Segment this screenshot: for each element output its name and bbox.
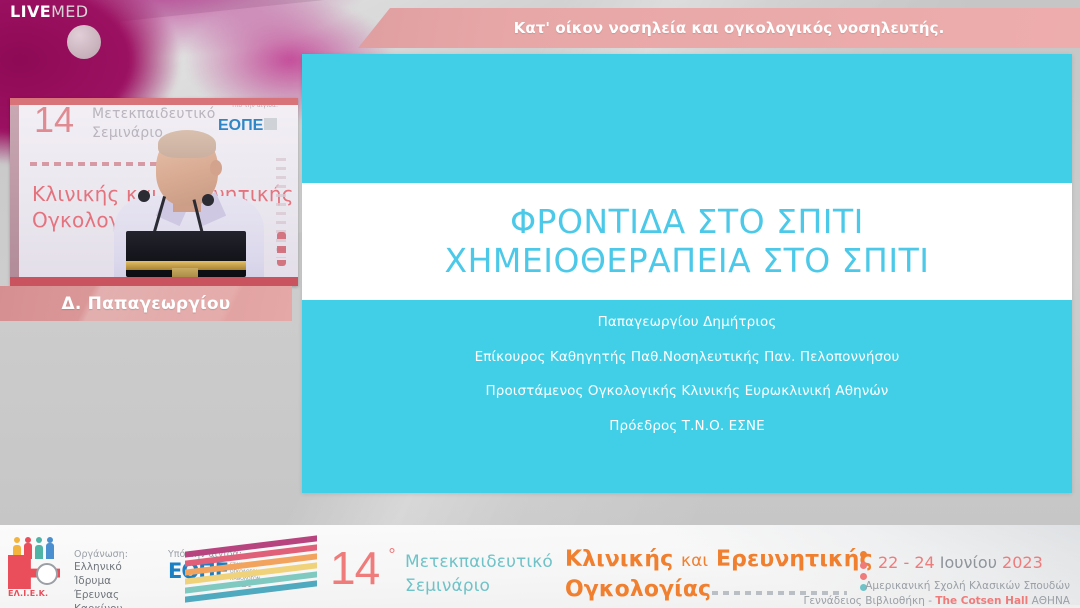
topic-line1-b: και	[681, 551, 708, 571]
presentation-title-text: Κατ' οίκον νοσηλεία και ογκολογικός νοση…	[494, 19, 945, 37]
slide-author-line-1: Παπαγεωργίου Δημήτριος	[598, 316, 777, 330]
topic-line1: Κλινικής και Ερευνητικής	[565, 547, 873, 572]
date-month: Ιουνίου	[940, 553, 997, 572]
video-backdrop-eope-logo: ΕΟΠΕ	[218, 112, 278, 138]
speaker-ear	[210, 160, 222, 176]
logo-live-text: LIVE	[10, 2, 51, 21]
footer-ribbon-graphic	[185, 525, 317, 608]
conference-dates: 22 - 24 Ιουνίου 2023	[878, 553, 1043, 572]
slide-title-band: ΦΡΟΝΤΙΔΑ ΣΤΟ ΣΠΙΤΙ ΧΗΜΕΙΟΘΕΡΑΠΕΙΑ ΣΤΟ ΣΠ…	[302, 183, 1072, 300]
elix-label: ΕΛ.Ι.Ε.Κ.	[8, 589, 48, 598]
presentation-title-band: Κατ' οίκον νοσηλεία και ογκολογικός νοση…	[358, 8, 1080, 48]
seminar-label-line2: Σεμινάριο	[405, 576, 490, 596]
microphone-head-left	[138, 190, 150, 202]
speaker-hair	[158, 130, 216, 158]
venue-city: ΑΘΗΝΑ	[1032, 595, 1070, 607]
logo-med-text: MED	[51, 2, 88, 21]
elix-logo: ΕΛ.Ι.Ε.Κ.	[8, 537, 64, 599]
speaker-name-text: Δ. Παπαγεωργίου	[62, 294, 231, 314]
date-day-start: 22	[878, 553, 898, 572]
livemed-logo: LIVEMED	[10, 4, 89, 20]
video-frame-top-edge	[10, 98, 298, 105]
venue-line-1: Αμερικανική Σχολή Κλασικών Σπουδών	[865, 580, 1070, 592]
slide-area: ΦΡΟΝΤΙΔΑ ΣΤΟ ΣΠΙΤΙ ΧΗΜΕΙΟΘΕΡΑΠΕΙΑ ΣΤΟ ΣΠ…	[302, 54, 1072, 493]
organizer-label: Οργάνωση:	[74, 549, 128, 560]
slide-author-line-3: Προιστάμενος Ογκολογικής Κλινικής Ευρωκλ…	[486, 385, 889, 399]
topic-line1-c: Ερευνητικής	[716, 547, 873, 572]
video-backdrop-number: 14	[34, 102, 74, 138]
date-day-end: 24	[914, 553, 934, 572]
elix-head-shape	[36, 563, 58, 585]
speaker-name-bar: Δ. Παπαγεωργίου	[0, 286, 292, 321]
video-frame-bottom-edge	[10, 277, 298, 286]
slide-title-line-1: ΦΡΟΝΤΙΔΑ ΣΤΟ ΣΠΙΤΙ	[510, 203, 864, 242]
video-backdrop-dot-column-accent	[277, 232, 286, 266]
organizer-name: Ελληνικό Ίδρυμα Έρευνας Καρκίνου	[74, 561, 144, 608]
backdrop-sphere-graphic	[67, 25, 101, 59]
seminar-label-line1: Μετεκπαιδευτικό	[405, 552, 553, 572]
slide-author-line-2: Επίκουρος Καθηγητής Παθ.Νοσηλευτικής Παν…	[475, 351, 900, 365]
date-separator: -	[903, 553, 909, 572]
edition-degree-symbol: °	[388, 545, 396, 564]
date-year: 2023	[1002, 553, 1043, 572]
topic-line1-a: Κλινικής	[565, 547, 673, 572]
slide-author-line-4: Πρόεδρος Τ.Ν.Ο. ΕΣΝΕ	[609, 420, 764, 434]
video-backdrop-seminar-line1: Μετεκπαιδευτικό	[92, 106, 216, 122]
slide-author-block: Παπαγεωργίου Δημήτριος Επίκουρος Καθηγητ…	[302, 316, 1072, 454]
eope-logo-icon: ΕΟΠΕ	[218, 112, 278, 138]
conference-footer: ΕΛ.Ι.Ε.Κ. Οργάνωση: Ελληνικό Ίδρυμα Έρευ…	[0, 525, 1080, 608]
venue-library: Γεννάδειος Βιβλιοθήκη -	[804, 595, 932, 607]
venue-hall: The Cotsen Hall	[935, 595, 1028, 607]
slide-title-line-2: ΧΗΜΕΙΟΘΕΡΑΠΕΙΑ ΣΤΟ ΣΠΙΤΙ	[445, 242, 930, 281]
microphone-head-right	[202, 194, 214, 206]
venue-line-2: Γεννάδειος Βιβλιοθήκη - The Cotsen Hall …	[804, 595, 1070, 607]
video-frame-left-edge	[10, 98, 19, 286]
edition-number: 14	[330, 545, 379, 591]
svg-text:ΕΟΠΕ: ΕΟΠΕ	[218, 117, 264, 134]
speaker-video-panel[interactable]: 14 Μετεκπαιδευτικό Σεμινάριο Καρκίνου Υπ…	[10, 98, 298, 286]
topic-line2: Ογκολογίας	[565, 577, 711, 602]
video-backdrop-seminar-line2: Σεμινάριο	[92, 125, 163, 141]
